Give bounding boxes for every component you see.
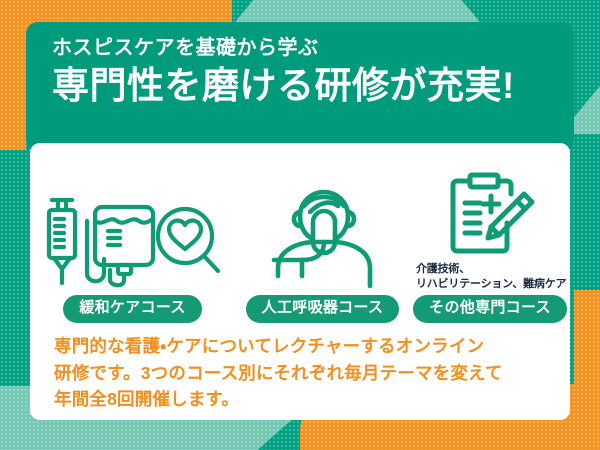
subheadline: ホスピスケアを基礎から学ぶ <box>52 36 574 61</box>
course-ventilator[interactable]: 人工呼吸器コース <box>235 151 410 323</box>
course-note-line2: リハビリテーション、難病ケア <box>416 278 566 290</box>
orange-band-right <box>574 290 600 450</box>
course-palliative-care[interactable]: 緩和ケアコース <box>30 151 235 323</box>
courses-row: 緩和ケアコース <box>30 151 570 323</box>
course-other-icons <box>410 151 570 262</box>
orange-band-left <box>0 0 26 150</box>
body-line-1: 専門的な看護・ケアについてレクチャーするオンライン <box>54 333 554 360</box>
body-line-3: 年間全8回開催します。 <box>54 386 554 413</box>
body-copy: 専門的な看護・ケアについてレクチャーするオンライン 研修です。3つのコース別にそ… <box>54 333 554 413</box>
course-pill-other[interactable]: その他専門コース <box>413 295 567 323</box>
content-card: 緩和ケアコース <box>30 143 570 420</box>
course-note-line1: 介護技術、 <box>416 263 470 275</box>
course-pill-palliative[interactable]: 緩和ケアコース <box>63 295 201 323</box>
headline: 専門性を磨ける研修が充実! <box>52 64 574 108</box>
iv-drip-bag-icon <box>87 207 153 285</box>
course-pill-ventilator[interactable]: 人工呼吸器コース <box>246 295 400 323</box>
course-note-other: 介護技術、リハビリテーション、難病ケア <box>410 262 570 291</box>
palliative-icon-group <box>40 191 225 291</box>
magnifier-heart-icon <box>158 209 218 271</box>
course-palliative-icons <box>30 151 235 295</box>
body-line-2: 研修です。3つのコース別にそれぞれ毎月テーマを変えて <box>54 360 554 387</box>
promo-banner: ホスピスケアを基礎から学ぶ 専門性を磨ける研修が充実! <box>0 0 600 450</box>
header-card: ホスピスケアを基礎から学ぶ 専門性を磨ける研修が充実! <box>26 22 574 150</box>
syringe-icon <box>49 200 75 283</box>
course-ventilator-icons <box>235 151 410 295</box>
course-other-specialty[interactable]: 介護技術、リハビリテーション、難病ケア その他専門コース <box>410 151 570 323</box>
patient-ventilator-icon <box>258 176 388 291</box>
clipboard-pencil-icon <box>440 168 540 258</box>
